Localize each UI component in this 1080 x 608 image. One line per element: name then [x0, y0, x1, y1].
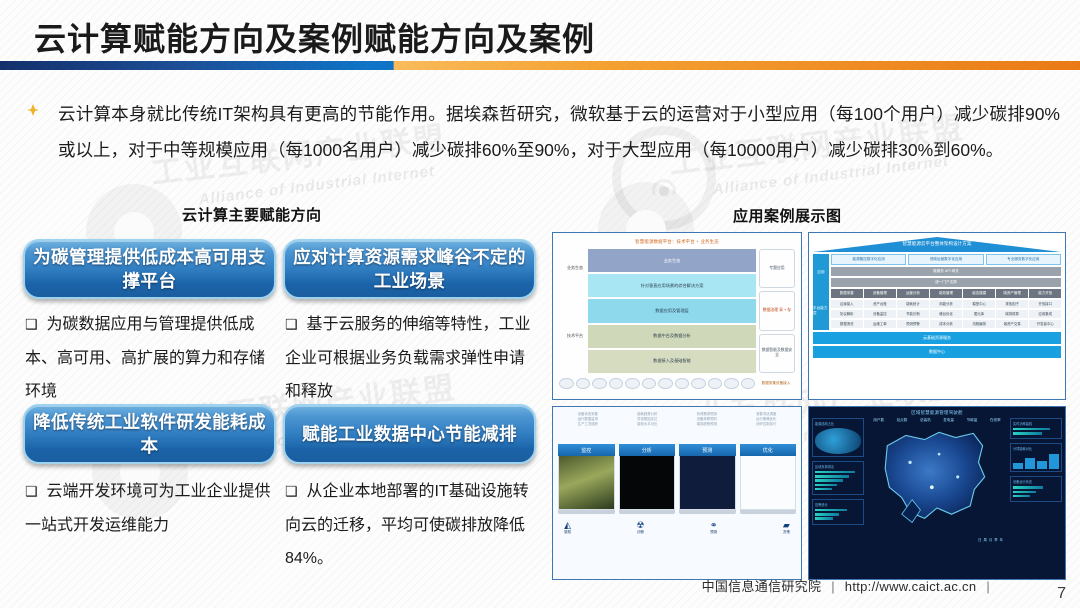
t4-left-panels: 能源结构占比 区域负荷排名 告警统计 — [812, 418, 864, 558]
capability-pill-2[interactable]: 应对计算资源需求峰谷不定的工业场景 — [283, 239, 536, 299]
t2-row-label-1: 平台能力层 — [813, 292, 829, 330]
t1-axis-0: 业务生态 — [567, 265, 583, 271]
t4-kpi-2: 总装机 — [920, 418, 931, 423]
t1-device-icon — [741, 378, 756, 389]
t2-app-2: 专业服务数字化应用 — [986, 254, 1061, 265]
t2-cell: 排放因子 — [996, 300, 1028, 309]
capability-pill-2-label: 应对计算资源需求峰谷不定的工业场景 — [293, 245, 526, 293]
t2-cell: 应用集成 — [1029, 310, 1061, 319]
t2-group-6: 能力开放 — [1029, 289, 1061, 298]
t4-left-panel-1: 区域负荷排名 — [812, 461, 864, 495]
diamond-bullet-icon — [27, 104, 39, 116]
t2-cell: 预测预警 — [897, 320, 929, 329]
watermark-text-en-1: Alliance of Industrial Internet — [198, 164, 436, 208]
t4-province-map: 用户数 站点数 总装机 发电量 节碳量 在线率 — [867, 418, 1007, 558]
t4-right-panel-2: 设备运行状态 — [1010, 476, 1062, 502]
t1-side-2: 数据智能及数据安全 — [759, 334, 795, 373]
capability-bullet-4-text: 从企业本地部署的IT基础设施转向云的迁移，平均可使碳排放降低84%。 — [285, 483, 529, 567]
t2-cell: 协议解析 — [831, 310, 863, 319]
t1-axis-1: 技术平台 — [567, 333, 583, 339]
capability-pill-3[interactable]: 降低传统工业软件研发能耗成本 — [23, 404, 276, 464]
t1-device-icon — [559, 378, 574, 389]
t1-layer-1: 针对垂直应用场景的综合解决方案 — [588, 274, 756, 297]
t2-bottom-0: 云基础资源服务 — [813, 332, 1061, 344]
capability-bullet-2: ❑ 基于云服务的伸缩等特性，工业企业可根据业务负载需求弹性申请和释放 — [285, 308, 535, 408]
t4-header: 区域智慧能源管理驾驶舱 — [809, 407, 1065, 418]
t2-cell: 碳排核算 — [996, 310, 1028, 319]
title-divider-bar — [0, 61, 1080, 70]
t1-device-icon — [576, 378, 591, 389]
thumbnail-four-laptop-showcase[interactable]: 设备状态采集 运行数据监测 生产工况追踪 能耗趋势分析 异常根因定位 能效水平对… — [552, 406, 802, 580]
t3-label-0: 监控 — [558, 444, 615, 456]
t3-icon-label-3: 决策 — [783, 530, 790, 534]
t1-side-1: 数据治理 采 + 存 — [759, 291, 795, 330]
t1-layer-0: 业务生态 — [588, 249, 756, 272]
t3-label-2: 预测 — [679, 444, 736, 456]
t2-group-0: 数据采集 — [831, 289, 863, 298]
t2-cell: 图元库 — [963, 310, 995, 319]
t3-label-1: 分析 — [619, 444, 676, 456]
thumbnail-platform-capability-table[interactable]: 智慧能源云平台整体架构设计方案 应用 平台能力层 能源管控数字化应用 低碳运营数… — [808, 232, 1066, 400]
thumbnail-energy-dashboard-map[interactable]: 区域智慧能源管理驾驶舱 能源结构占比 区域负荷排名 — [808, 406, 1066, 580]
t2-group-3: 能效管理 — [930, 289, 962, 298]
capability-bullet-4: ❑ 从企业本地部署的IT基础设施转向云的迁移，平均可使碳排放降低84%。 — [285, 475, 535, 575]
t4-tab-3[interactable]: 季 — [994, 537, 997, 542]
capabilities-grid: 为碳管理提供低成本高可用支撑平台 ❑ 为碳数据应用与管理提供低成本、高可用、高扩… — [18, 232, 538, 592]
t3-icon-group-1: ☢ 诊断 — [637, 520, 645, 535]
t3-icon-group-2: ⚭ 预测 — [710, 520, 718, 535]
t3-laptop-0: 监控 — [558, 444, 615, 514]
footer-separator-2: | — [986, 579, 990, 594]
t1-footer: 数据采集设备接入 — [757, 381, 795, 386]
square-bullet-icon-3: ❑ — [25, 484, 38, 500]
t4-kpi-3: 发电量 — [943, 418, 954, 423]
t3-laptop-3: 优化 — [740, 444, 797, 514]
t3-icon-label-2: 预测 — [710, 530, 717, 534]
t4-kpi-1: 站点数 — [897, 418, 908, 423]
capability-bullet-1-text: 为碳数据应用与管理提供低成本、高可用、高扩展的算力和存储环境 — [25, 316, 265, 400]
molecule-icon: ⚭ — [710, 520, 718, 530]
t1-device-icon — [609, 378, 624, 389]
t4-left-panel-1-title: 区域负荷排名 — [815, 464, 861, 469]
capability-pill-4[interactable]: 赋能工业数据中心节能减排 — [283, 404, 536, 464]
t1-device-icon — [691, 378, 706, 389]
t4-left-panel-0-title: 能源结构占比 — [815, 421, 861, 426]
t4-right-panel-1: 分项能耗对比 — [1010, 443, 1062, 472]
capability-bullet-2-text: 基于云服务的伸缩等特性，工业企业可根据业务负载需求弹性申请和释放 — [285, 316, 530, 400]
t1-header: 智慧能源数据平台：技术平台 + 业务生态 — [559, 239, 795, 245]
t2-cell: 节能诊断 — [897, 310, 929, 319]
t2-group-1: 设备管理 — [864, 289, 896, 298]
t1-side-0: 专题应用 — [759, 249, 795, 288]
t3-note-1: 能耗趋势分析 异常根因定位 能效水平对比 — [637, 412, 657, 442]
t3-icon-label-1: 诊断 — [637, 530, 644, 534]
lead-paragraph: 云计算本身就比传统IT架构具有更高的节能作用。据埃森哲研究，微软基于云的运营对于… — [58, 96, 1060, 168]
capability-pill-1[interactable]: 为碳管理提供低成本高可用支撑平台 — [23, 239, 276, 299]
t3-note-0: 设备状态采集 运行数据监测 生产工况追踪 — [578, 412, 598, 442]
section-caption-left: 云计算主要赋能方向 — [182, 204, 322, 225]
t3-note-2: 负荷需求预测 设备故障预判 碳排趋势预测 — [697, 412, 717, 442]
t2-row-label-0: 应用 — [813, 254, 829, 292]
t2-cell: 用能分析 — [930, 300, 962, 309]
t2-cell: 资产台账 — [864, 300, 896, 309]
capability-bullet-3: ❑ 云端开发环境可为工业企业提供一站式开发运维能力 — [25, 475, 275, 542]
t1-layer-4: 数据接入及基础智能 — [588, 350, 756, 373]
t4-kpi-0: 用户数 — [873, 418, 884, 423]
t4-tab-0[interactable]: 日 — [978, 537, 981, 542]
t4-kpi-4: 节碳量 — [967, 418, 978, 423]
thumbnail-layered-architecture[interactable]: 智慧能源数据平台：技术平台 + 业务生态 业务生态 技术平台 业务生态 针对垂直… — [552, 232, 802, 400]
t4-tab-1[interactable]: 周 — [983, 537, 986, 542]
t2-cell: 峰谷优化 — [930, 310, 962, 319]
t4-left-panel-0: 能源结构占比 — [812, 418, 864, 457]
section-caption-right: 应用案例展示图 — [733, 205, 842, 226]
t2-bottom-1: 数据中心 — [813, 346, 1061, 358]
t2-header: 智慧能源云平台整体架构设计方案 — [813, 237, 1061, 252]
t3-laptop-2: 预测 — [679, 444, 736, 514]
t4-right-panel-0: 实时功率曲线 — [1010, 418, 1062, 439]
t3-icon-label-0: 感知 — [564, 530, 571, 534]
t2-cell: 碳资产交易 — [996, 320, 1028, 329]
t1-layer-2: 数据应用及管理层 — [588, 299, 756, 322]
t3-laptop-1: 分析 — [619, 444, 676, 514]
t2-cell: 开放接口 — [1029, 300, 1061, 309]
t2-cell: 开发者中心 — [1029, 320, 1061, 329]
t1-device-icon — [642, 378, 657, 389]
t3-label-3: 优化 — [740, 444, 797, 456]
t2-cell: 运维工单 — [864, 320, 896, 329]
t2-cell: 模型中心 — [963, 300, 995, 309]
t2-app-1: 低碳运营数字化应用 — [908, 254, 983, 265]
t4-tab-4[interactable]: 年 — [1000, 537, 1003, 542]
slide-canvas: 工业互联网产业联盟 Alliance of Industrial Interne… — [0, 0, 1080, 608]
t2-cell: 流程编排 — [963, 320, 995, 329]
footer-url[interactable]: http://www.caict.ac.cn — [845, 579, 977, 594]
capability-pill-3-label: 降低传统工业软件研发能耗成本 — [33, 410, 266, 458]
t4-kpi-5: 在线率 — [990, 418, 1001, 423]
t1-device-row: 数据采集设备接入 — [559, 378, 795, 389]
capability-bullet-3-text: 云端开发环境可为工业企业提供一站式开发运维能力 — [25, 483, 270, 534]
t4-right-panels: 实时功率曲线 分项能耗对比 设备运行状态 — [1010, 418, 1062, 558]
t4-right-panel-0-title: 实时功率曲线 — [1013, 421, 1059, 426]
t2-cell: 成本分析 — [930, 320, 962, 329]
t1-device-icon — [625, 378, 640, 389]
square-bullet-icon-1: ❑ — [25, 317, 38, 333]
square-bullet-icon-2: ❑ — [285, 317, 298, 333]
t2-cell: 设备监控 — [864, 310, 896, 319]
t2-group-2: 运营分析 — [897, 289, 929, 298]
t2-gray-0: 微服务 API 网关 — [831, 267, 1061, 276]
t2-cell: 数据清洗 — [831, 320, 863, 329]
t4-tab-2[interactable]: 月 — [989, 537, 992, 542]
t4-left-panel-2: 告警统计 — [812, 499, 864, 525]
page-number: 7 — [1057, 585, 1066, 603]
t2-group-4: 组态建模 — [963, 289, 995, 298]
sensor-icon: ◭ — [564, 520, 571, 530]
footer-separator-1: | — [831, 579, 835, 594]
page-title: 云计算赋能方向及案例赋能方向及案例 — [34, 14, 595, 60]
t1-device-icon — [675, 378, 690, 389]
capability-pill-4-label: 赋能工业数据中心节能减排 — [302, 422, 517, 446]
t3-icon-group-0: ◭ 感知 — [564, 520, 571, 535]
t1-device-icon — [658, 378, 673, 389]
t3-note-3: 参数寻优调度 运行策略优化 闭环控制执行 — [756, 412, 776, 442]
t2-cell: 边缘接入 — [831, 300, 863, 309]
t4-right-panel-2-title: 设备运行状态 — [1013, 479, 1059, 484]
t1-device-icon — [592, 378, 607, 389]
t4-right-panel-1-title: 分项能耗对比 — [1013, 446, 1059, 451]
t2-app-0: 能源管控数字化应用 — [831, 254, 906, 265]
capability-bullet-1: ❑ 为碳数据应用与管理提供低成本、高可用、高扩展的算力和存储环境 — [25, 308, 275, 408]
t1-layer-3: 数据中台及数据分析 — [588, 325, 756, 348]
case-study-thumbnail-grid: 智慧能源数据平台：技术平台 + 业务生态 业务生态 技术平台 业务生态 针对垂直… — [552, 232, 1066, 580]
bar-chart-icon: ▰ — [783, 520, 790, 530]
t4-left-panel-2-title: 告警统计 — [815, 502, 861, 507]
t1-device-icon — [724, 378, 739, 389]
t3-icon-group-3: ▰ 决策 — [783, 520, 790, 535]
capability-pill-1-label: 为碳管理提供低成本高可用支撑平台 — [33, 245, 266, 293]
footer-org: 中国信息通信研究院 — [702, 579, 822, 594]
square-bullet-icon-4: ❑ — [285, 484, 298, 500]
t2-cell: 能耗统计 — [897, 300, 929, 309]
t2-group-5: 碳资产管理 — [996, 289, 1028, 298]
t1-device-icon — [708, 378, 723, 389]
footer: 中国信息通信研究院 | http://www.caict.ac.cn | — [702, 576, 996, 595]
thermometer-icon: ☢ — [637, 520, 645, 530]
t2-gray-1: 统一门户支撑 — [831, 278, 1061, 287]
